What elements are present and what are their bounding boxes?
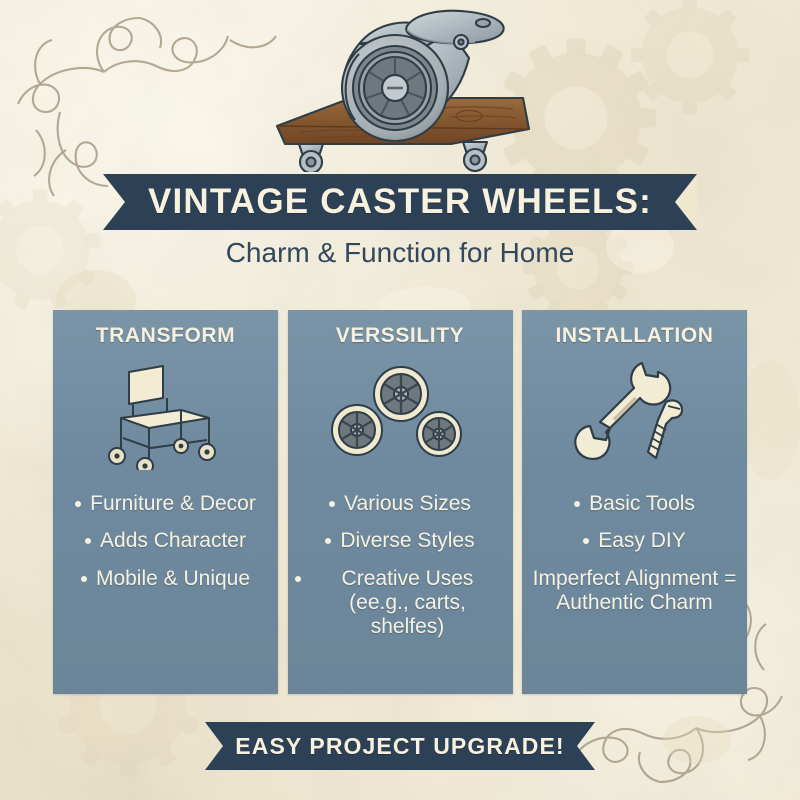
panel-installation-title: INSTALLATION [555, 324, 713, 348]
list-item-label: Furniture & Decor [90, 492, 256, 516]
chair-with-casters-icon [81, 360, 251, 470]
wheel-left [332, 405, 382, 455]
list-item: Mobile & Unique [81, 567, 250, 591]
panel-transform-list: Furniture & Decor Adds Character Mobile … [53, 492, 278, 591]
panel-transform[interactable]: TRANSFORM [53, 310, 278, 694]
screw-icon [648, 400, 682, 458]
list-item: Various Sizes [329, 492, 471, 516]
bullet-dot-icon [329, 501, 335, 507]
list-item-label: Easy DIY [598, 529, 686, 553]
corner-ornament-top-left-icon [18, 18, 276, 196]
list-item: Creative Uses (ee.g., carts, shelfes) [295, 567, 505, 640]
bullet-dot-icon [583, 538, 589, 544]
list-item-label: Creative Uses (ee.g., carts, shelfes) [310, 567, 505, 640]
panel-installation-list: Basic Tools Easy DIY Imperfect Alignment… [522, 492, 747, 615]
list-item-label: Mobile & Unique [96, 567, 250, 591]
bullet-dot-icon [75, 501, 81, 507]
list-item: Furniture & Decor [75, 492, 256, 516]
wheel-right [417, 412, 461, 456]
small-caster-left-icon [299, 144, 323, 172]
panel-transform-title: TRANSFORM [96, 324, 236, 348]
list-item-label: Imperfect Alignment = Authentic Charm [530, 567, 740, 616]
panel-installation[interactable]: INSTALLATION [522, 310, 747, 694]
small-caster-right-icon [463, 142, 487, 171]
title-banner-text: VINTAGE CASTER WHEELS: [103, 174, 697, 230]
panel-verssility[interactable]: VERSSILITY [288, 310, 513, 694]
swivel-rivet-icon [454, 35, 468, 49]
list-item: Basic Tools [574, 492, 695, 516]
footer-banner-text: EASY PROJECT UPGRADE! [205, 722, 595, 770]
bullet-dot-icon [325, 538, 331, 544]
list-item: Imperfect Alignment = Authentic Charm [530, 567, 740, 616]
list-item-label: Diverse Styles [340, 529, 474, 553]
subtitle: Charm & Function for Home [0, 237, 800, 269]
list-item: Diverse Styles [325, 529, 474, 553]
bullet-dot-icon [85, 538, 91, 544]
list-item-label: Adds Character [100, 529, 246, 553]
bullet-dot-icon [574, 501, 580, 507]
panels-row: TRANSFORM [53, 310, 747, 694]
title-banner: VINTAGE CASTER WHEELS: [103, 174, 697, 230]
three-caster-wheels-icon [315, 360, 485, 470]
caster-wheel-illustration [255, 0, 555, 172]
main-wheel-icon [342, 35, 448, 141]
bullet-dot-icon [81, 576, 87, 582]
wrench-and-screw-icon [550, 360, 720, 470]
list-item-label: Basic Tools [589, 492, 695, 516]
list-item-label: Various Sizes [344, 492, 471, 516]
list-item: Easy DIY [583, 529, 686, 553]
list-item: Adds Character [85, 529, 246, 553]
wheel-top [374, 367, 428, 421]
footer-banner: EASY PROJECT UPGRADE! [205, 722, 595, 770]
panel-verssility-list: Various Sizes Diverse Styles Creative Us… [288, 492, 513, 640]
panel-verssility-title: VERSSILITY [336, 324, 465, 348]
bullet-dot-icon [295, 576, 301, 582]
